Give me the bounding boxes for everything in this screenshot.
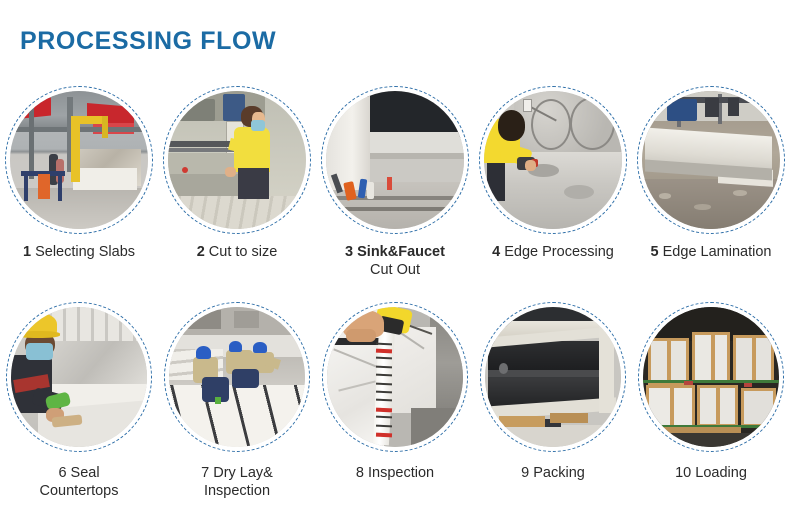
flow-row-2: 6 Seal Countertops 7 Dry Lay& Inspection <box>0 302 790 500</box>
step-2-caption: 2 Cut to size <box>152 243 322 261</box>
flow-step-2[interactable]: 2 Cut to size <box>158 86 316 279</box>
step-4-caption: 4 Edge Processing <box>468 243 638 261</box>
step-7-photo-dry-lay-inspection <box>169 307 305 447</box>
step-5-number: 5 <box>651 244 659 260</box>
flow-step-10[interactable]: 10 Loading <box>632 302 790 500</box>
step-5-photo-edge-lamination <box>642 91 780 229</box>
step-4-photo-edge-processing <box>484 91 622 229</box>
step-1-label: Selecting Slabs <box>35 244 135 260</box>
step-3-circle-frame <box>321 86 469 234</box>
step-8-number: 8 <box>356 465 364 481</box>
step-5-circle-frame <box>637 86 785 234</box>
flow-step-9[interactable]: 9 Packing <box>474 302 632 500</box>
step-8-caption: 8 Inspection <box>310 464 480 482</box>
step-4-circle-frame <box>479 86 627 234</box>
step-6-photo-seal-countertops <box>11 307 147 447</box>
step-2-number: 2 <box>197 244 205 260</box>
step-7-caption-line1: 7 Dry Lay& <box>152 464 322 482</box>
step-6-caption: 6 Seal Countertops <box>0 464 164 500</box>
step-1-caption: 1 Selecting Slabs <box>0 243 164 261</box>
step-9-circle-frame <box>480 302 626 452</box>
step-6-circle-frame <box>6 302 152 452</box>
step-7-caption-line2: Inspection <box>152 482 322 500</box>
step-5-caption: 5 Edge Lamination <box>626 243 790 261</box>
step-4-number: 4 <box>492 244 500 260</box>
page-title: PROCESSING FLOW <box>20 27 276 56</box>
flow-row-1: 1 Selecting Slabs 2 Cut to size <box>0 86 790 279</box>
step-8-label: Inspection <box>368 465 434 481</box>
step-3-caption-line1: 3 Sink&Faucet <box>345 244 445 260</box>
step-1-photo-warehouse-crane <box>10 91 148 229</box>
flow-step-8[interactable]: 8 Inspection <box>316 302 474 500</box>
step-10-circle-frame <box>638 302 784 452</box>
processing-flow-page: PROCESSING FLOW 1 Selecting Slabs <box>0 0 790 520</box>
step-2-label: Cut to size <box>209 244 278 260</box>
step-3-photo-sink-cutout <box>326 91 464 229</box>
step-9-label: Packing <box>533 465 585 481</box>
step-3-caption-line2: Cut Out <box>310 261 480 279</box>
step-5-label: Edge Lamination <box>663 244 772 260</box>
step-10-number: 10 <box>675 465 691 481</box>
step-10-photo-loading-container <box>643 307 779 447</box>
step-9-caption: 9 Packing <box>468 464 638 482</box>
step-1-number: 1 <box>23 244 31 260</box>
step-8-circle-frame <box>322 302 468 452</box>
flow-step-7[interactable]: 7 Dry Lay& Inspection <box>158 302 316 500</box>
flow-step-5[interactable]: 5 Edge Lamination <box>632 86 790 279</box>
step-9-number: 9 <box>521 465 529 481</box>
step-2-photo-cutting-machine <box>168 91 306 229</box>
step-9-photo-packing-crate <box>485 307 621 447</box>
step-7-circle-frame <box>164 302 310 452</box>
step-3-caption: 3 Sink&Faucet Cut Out <box>310 243 480 279</box>
step-4-label: Edge Processing <box>504 244 614 260</box>
step-10-caption: 10 Loading <box>626 464 790 482</box>
step-6-caption-line1: 6 Seal <box>0 464 164 482</box>
step-1-circle-frame <box>5 86 153 234</box>
step-2-circle-frame <box>163 86 311 234</box>
flow-step-3[interactable]: 3 Sink&Faucet Cut Out <box>316 86 474 279</box>
step-6-caption-line2: Countertops <box>0 482 164 500</box>
flow-step-6[interactable]: 6 Seal Countertops <box>0 302 158 500</box>
step-8-photo-tape-measure-inspection <box>327 307 463 447</box>
step-10-label: Loading <box>695 465 747 481</box>
flow-step-4[interactable]: 4 Edge Processing <box>474 86 632 279</box>
flow-step-1[interactable]: 1 Selecting Slabs <box>0 86 158 279</box>
step-7-caption: 7 Dry Lay& Inspection <box>152 464 322 500</box>
